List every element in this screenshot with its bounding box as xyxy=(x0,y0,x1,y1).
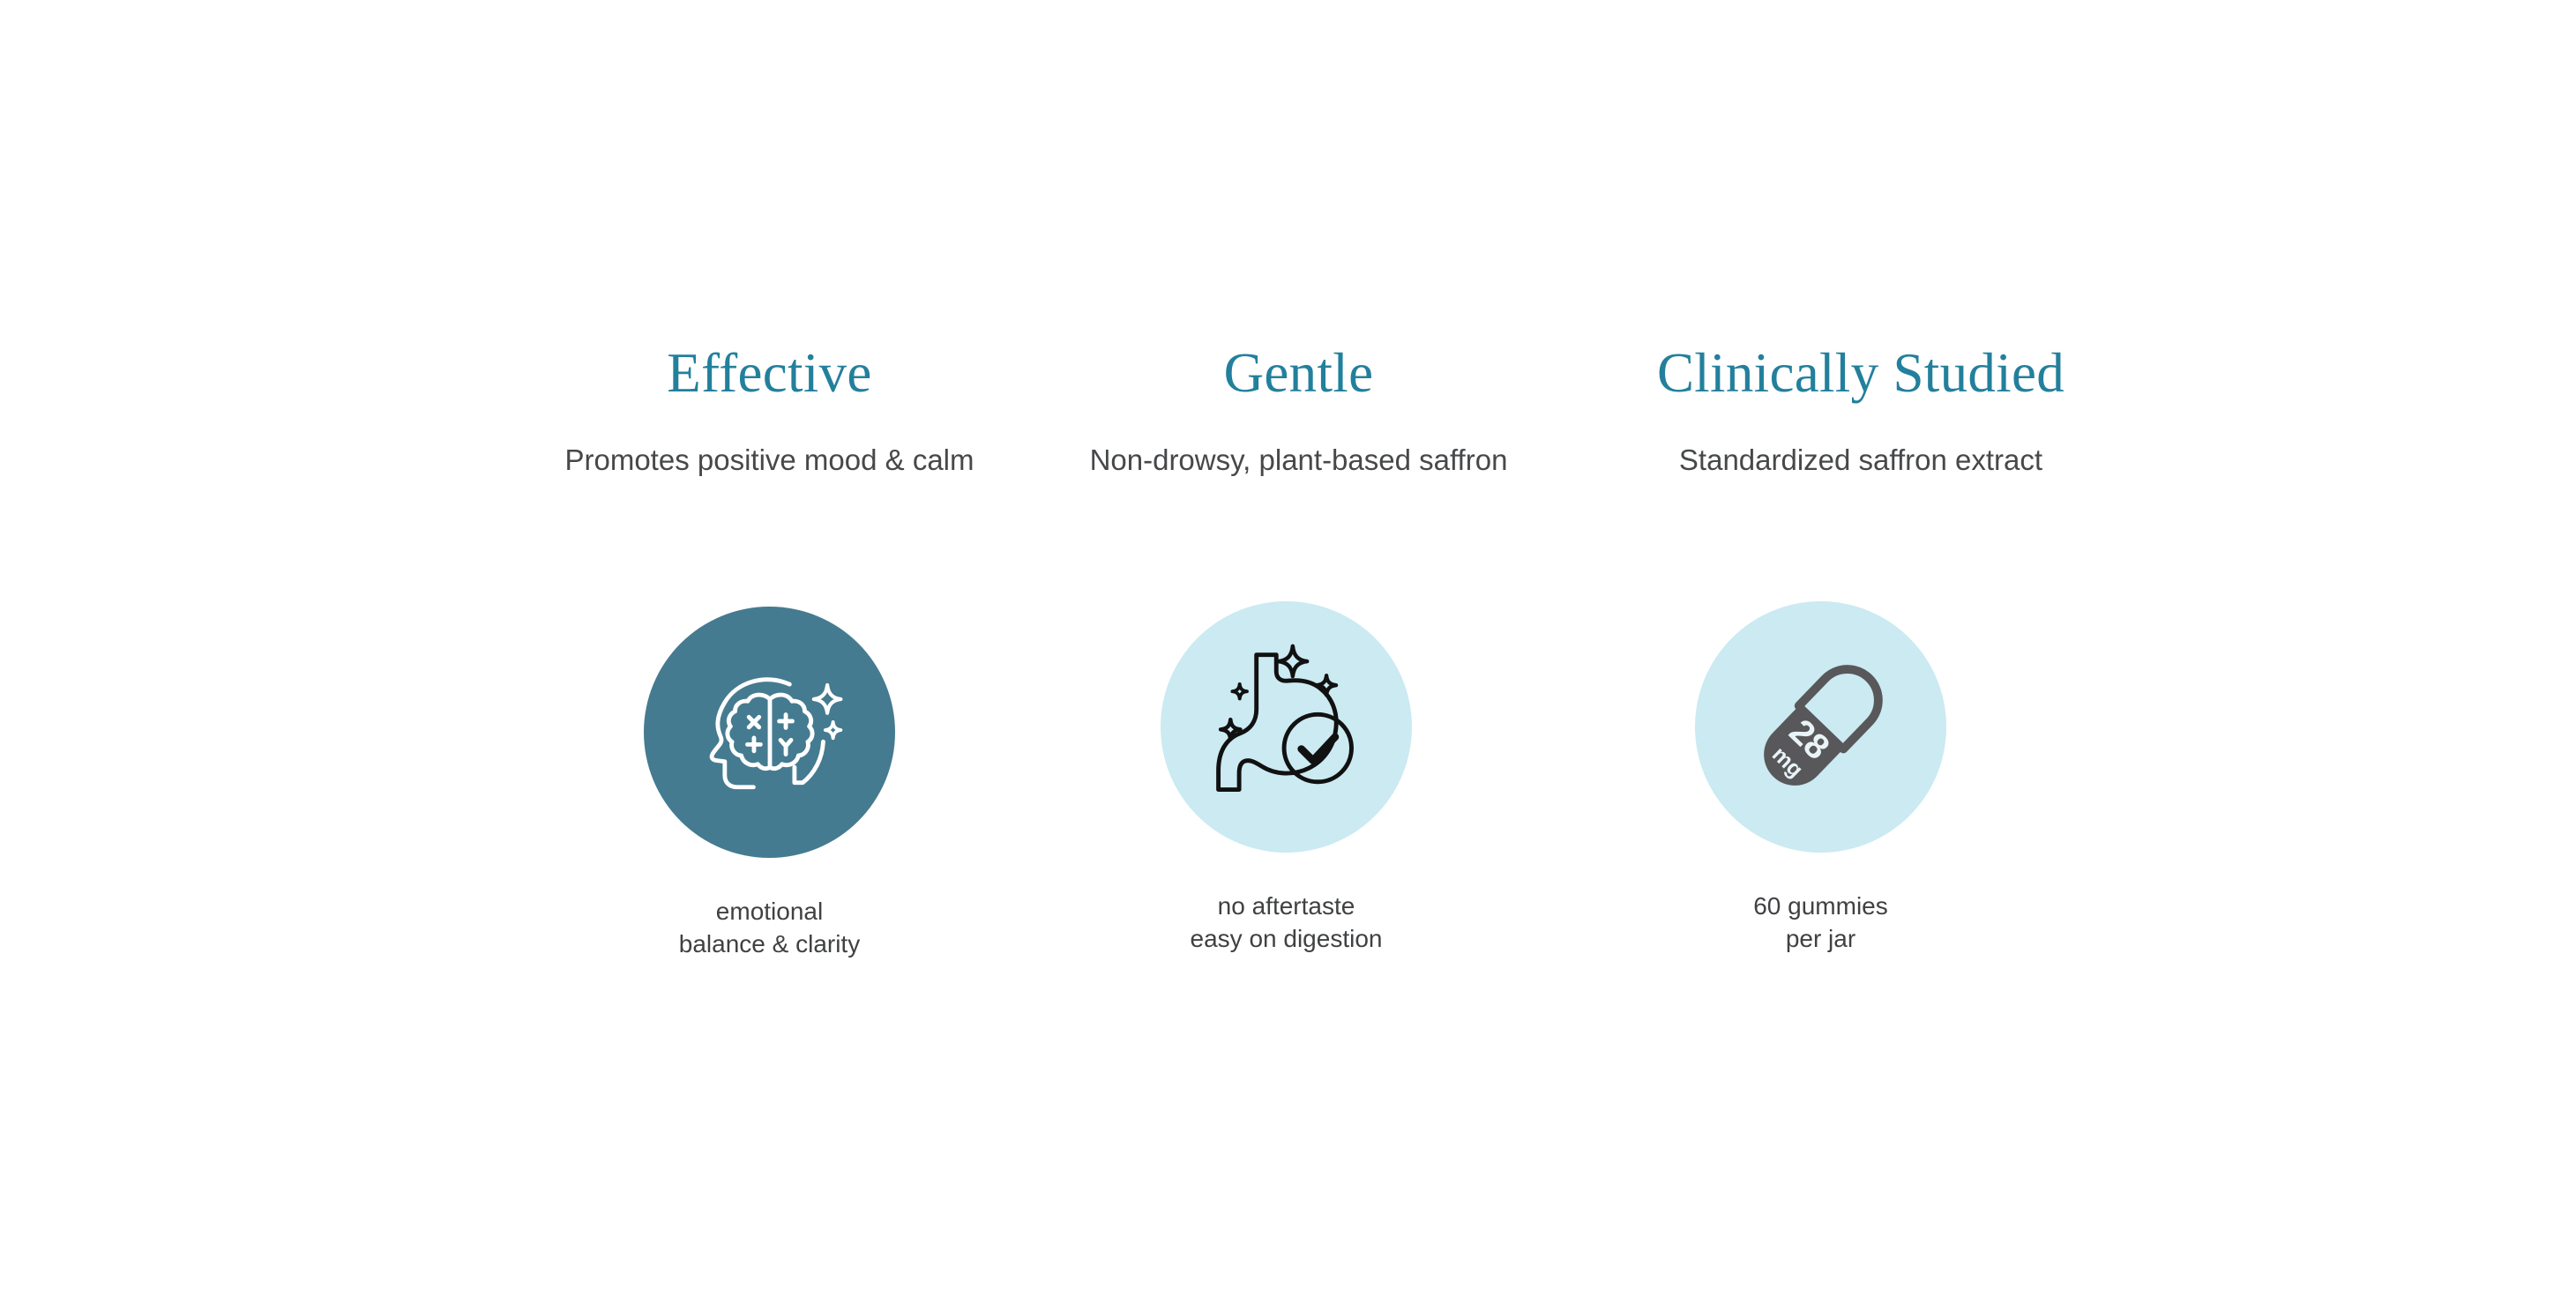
column-subtitle: Standardized saffron extract xyxy=(1587,442,2134,478)
feature-gentle: no aftertaste easy on digestion xyxy=(1161,601,1412,956)
feature-caption: no aftertaste easy on digestion xyxy=(1161,890,1412,956)
capsule-pill-28mg-icon: 28 mg xyxy=(1737,644,1905,811)
feature-caption: emotional balance & clarity xyxy=(644,896,895,961)
stomach-check-sparkle-icon xyxy=(1200,641,1373,814)
badge-circle-gentle xyxy=(1161,601,1412,853)
column-subtitle: Promotes positive mood & calm xyxy=(494,442,1045,478)
brain-head-sparkle-icon xyxy=(688,651,852,815)
feature-effective: emotional balance & clarity xyxy=(644,607,895,961)
column-title: Clinically Studied xyxy=(1587,346,2134,401)
column-header-effective: Effective Promotes positive mood & calm xyxy=(494,346,1045,478)
column-title: Effective xyxy=(494,346,1045,401)
badge-circle-clinically-studied: 28 mg xyxy=(1695,601,1946,853)
column-title: Gentle xyxy=(1023,346,1574,401)
headings-row: Effective Promotes positive mood & calm … xyxy=(0,346,2576,548)
column-header-gentle: Gentle Non-drowsy, plant-based saffron xyxy=(1023,346,1574,478)
feature-clinically-studied: 28 mg 60 gummies per jar xyxy=(1695,601,1946,956)
feature-caption: 60 gummies per jar xyxy=(1695,890,1946,956)
benefits-section: Effective Promotes positive mood & calm … xyxy=(0,0,2576,1304)
column-header-clinically-studied: Clinically Studied Standardized saffron … xyxy=(1587,346,2134,478)
badge-circle-effective xyxy=(644,607,895,858)
column-subtitle: Non-drowsy, plant-based saffron xyxy=(1023,442,1574,478)
